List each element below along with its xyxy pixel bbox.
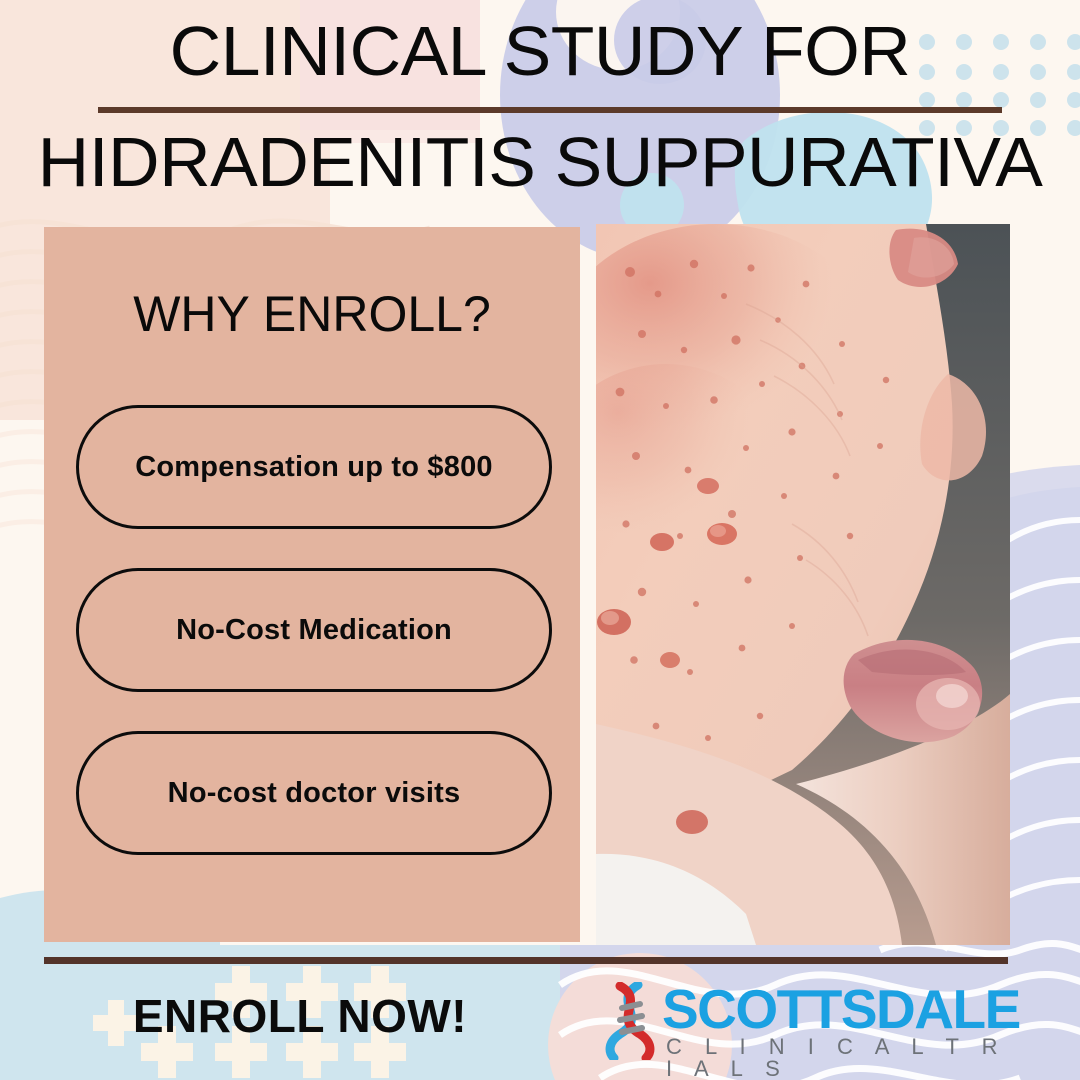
benefits-list: Compensation up to $800 No-Cost Medicati… [76, 405, 552, 894]
poster-header: CLINICAL STUDY FOR HIDRADENITIS SUPPURAT… [0, 0, 1080, 205]
benefit-pill-compensation[interactable]: Compensation up to $800 [76, 405, 552, 529]
poster-canvas: CLINICAL STUDY FOR HIDRADENITIS SUPPURAT… [0, 0, 1080, 1080]
logo-tagline: C L I N I C A L T R I A L S [666, 1036, 1020, 1080]
patient-skin-photo [596, 224, 1010, 945]
footer-divider [44, 957, 1008, 964]
benefit-pill-doctor-visits[interactable]: No-cost doctor visits [76, 731, 552, 855]
benefit-pill-medication[interactable]: No-Cost Medication [76, 568, 552, 692]
dna-helix-icon [600, 982, 662, 1060]
enroll-now-cta[interactable]: ENROLL NOW! [60, 993, 540, 1039]
page-title-line2: HIDRADENITIS SUPPURATIVA [0, 127, 1080, 197]
benefit-label: Compensation up to $800 [89, 450, 539, 484]
logo-wordmark: SCOTTSDALE [662, 982, 1020, 1037]
card-heading: WHY ENROLL? [44, 289, 580, 339]
why-enroll-card: WHY ENROLL? Compensation up to $800 No-C… [44, 227, 580, 942]
page-title-line1: CLINICAL STUDY FOR [0, 16, 1080, 86]
benefit-label: No-cost doctor visits [122, 776, 507, 810]
scottsdale-logo[interactable]: SCOTTSDALE C L I N I C A L T R I A L S [600, 978, 1020, 1066]
benefit-label: No-Cost Medication [130, 613, 498, 647]
title-divider [98, 107, 1002, 113]
